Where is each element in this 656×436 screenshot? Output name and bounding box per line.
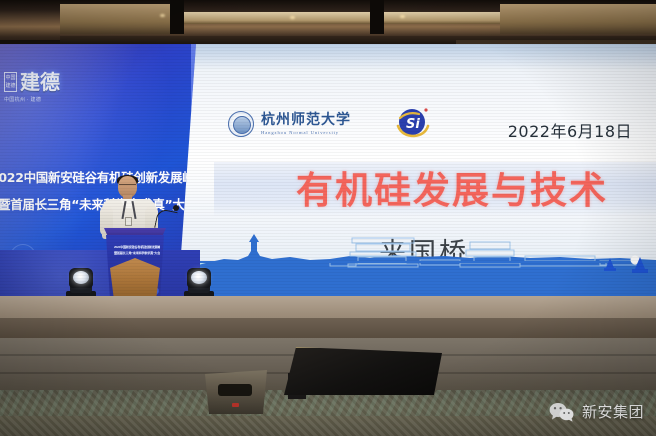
wedge-grille bbox=[218, 384, 252, 396]
ceiling-beam bbox=[370, 0, 384, 34]
lectern-banner-line1: 2022中国新安硅谷有机硅创新发展峰会 bbox=[114, 245, 160, 250]
screen-top-glow bbox=[180, 44, 656, 70]
ceiling-panel bbox=[60, 4, 180, 34]
jiande-logo-box: 中国 建德 bbox=[4, 72, 17, 92]
gooseneck-microphone-icon bbox=[156, 206, 180, 230]
moving-head-light-icon bbox=[184, 262, 214, 298]
light-lens bbox=[191, 271, 207, 284]
watermark: 新安集团 bbox=[549, 401, 644, 422]
stage-monitor-screen-icon bbox=[280, 347, 442, 399]
ceiling-downlight-icon bbox=[160, 14, 165, 17]
presentation-date: 2022年6月18日 bbox=[508, 118, 632, 142]
screenshot-root: 杭州师范大学 Hangzhou Normal University Si 202… bbox=[0, 0, 656, 436]
presenter-badge bbox=[125, 217, 132, 226]
ceiling-light-bar bbox=[180, 12, 500, 24]
conference-title-line1: 2022中国新安硅谷有机硅创新发展峰会 bbox=[0, 170, 196, 185]
university-name-en: Hangzhou Normal University bbox=[261, 129, 351, 136]
university-seal-icon bbox=[228, 111, 254, 137]
mic-capsule bbox=[173, 205, 179, 211]
ceiling-panel bbox=[500, 4, 656, 34]
monitor-panel bbox=[284, 347, 442, 395]
skyline-boats-icon bbox=[180, 226, 656, 296]
svg-text:Si: Si bbox=[406, 117, 420, 132]
si-circle-logo-icon: Si bbox=[392, 106, 432, 140]
presenter-glasses-icon bbox=[119, 184, 136, 188]
hangzhou-skyline-icon bbox=[180, 226, 656, 296]
wechat-logo-icon bbox=[549, 402, 575, 422]
ceiling-beam bbox=[170, 0, 184, 34]
lectern-icon: 2022中国新安硅谷有机硅创新发展峰会 暨首届长三角“未来科学家求真”大会 bbox=[104, 228, 166, 300]
jiande-logo-word: 建德 bbox=[20, 71, 60, 93]
ceiling-downlight-icon bbox=[400, 15, 405, 18]
ceiling-downlight-icon bbox=[290, 16, 295, 19]
moving-head-light-icon bbox=[66, 262, 96, 298]
jiande-box-line2: 建德 bbox=[5, 82, 15, 90]
wedge-power-led bbox=[232, 403, 239, 407]
jiande-city-logo-icon: 中国 建德 建德 bbox=[4, 64, 62, 100]
jiande-logo-subtitle: 中国杭州 · 建德 bbox=[4, 96, 41, 103]
light-lens bbox=[73, 271, 89, 284]
presentation-title: 有机硅发展与技术 bbox=[296, 170, 608, 212]
watermark-label: 新安集团 bbox=[582, 401, 644, 422]
lectern-banner-line2: 暨首届长三角“未来科学家求真”大会 bbox=[114, 251, 160, 256]
stage-wedge-speaker-icon bbox=[205, 370, 267, 414]
university-logo-text: 杭州师范大学 Hangzhou Normal University bbox=[261, 112, 351, 136]
jiande-box-line1: 中国 bbox=[5, 74, 15, 82]
university-name-cn: 杭州师范大学 bbox=[261, 112, 351, 128]
university-logo: 杭州师范大学 Hangzhou Normal University bbox=[228, 102, 351, 146]
